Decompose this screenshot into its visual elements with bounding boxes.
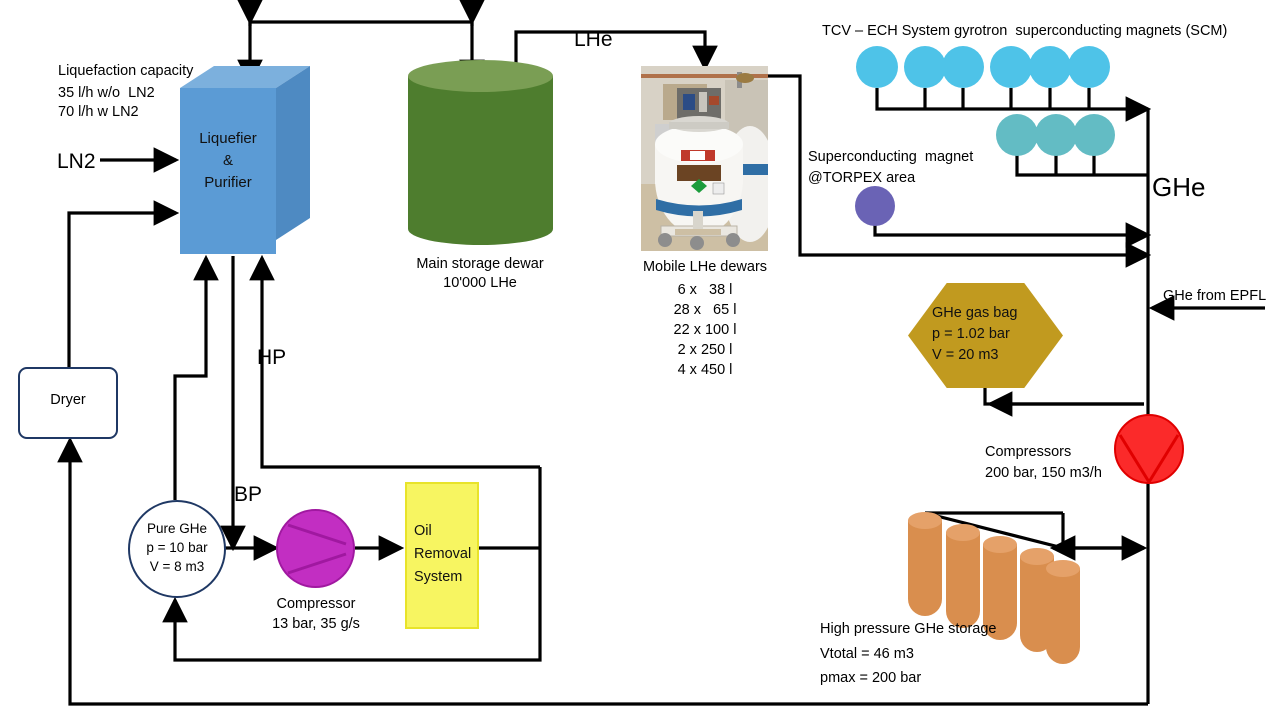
main-storage-dewar[interactable] — [408, 60, 553, 245]
liquefier-purifier-unit[interactable]: Liquefier & Purifier — [180, 66, 310, 254]
hp-storage-line1: High pressure GHe storage — [820, 620, 997, 639]
compressor-label-line2: 13 bar, 35 g/s — [236, 615, 396, 634]
hp-bottle-5[interactable] — [1046, 560, 1080, 672]
liquefier-label-line1: Liquefier — [180, 128, 276, 150]
mobile-dewars-row-3: 2 x 250 l — [620, 341, 790, 360]
compressor-label-line1: Compressor — [236, 595, 396, 614]
hp-bottle-cap — [946, 524, 980, 541]
mobile-dewars-row-1: 28 x 65 l — [620, 301, 790, 320]
ghe-stream-label: GHe — [1152, 178, 1205, 197]
compressors-200bar[interactable] — [1114, 414, 1184, 484]
hp-bottle-cap — [1046, 560, 1080, 577]
scm-magnet-row2-3[interactable] — [1073, 114, 1115, 156]
pipe-gasbag-link — [985, 388, 1144, 404]
gyrotron-magnet-4[interactable] — [990, 46, 1032, 88]
ln2-label: LN2 — [57, 152, 96, 171]
oil-removal-system[interactable]: Oil Removal System — [405, 482, 479, 629]
oil-removal-text: Oil Removal System — [414, 520, 471, 589]
compressors-label-line2: 200 bar, 150 m3/h — [985, 464, 1102, 483]
gas-bag-line3: V = 20 m3 — [932, 345, 1017, 366]
pipe-dryer-to-liquefier — [69, 213, 176, 367]
torpex-magnet-label-line2: @TORPEX area — [808, 169, 915, 188]
hp-bottle-cap — [908, 512, 942, 529]
hp-storage-line3: pmax = 200 bar — [820, 669, 921, 688]
ghe-gas-bag[interactable]: GHe gas bag p = 1.02 bar V = 20 m3 — [908, 283, 1063, 388]
hp-bottle-1[interactable] — [908, 512, 942, 624]
liquefaction-capacity-line1: 35 l/h w/o LN2 — [58, 84, 155, 103]
pipe-scm-row2-bus — [1017, 155, 1148, 175]
torpex-magnet-label-line1: Superconducting magnet — [808, 148, 973, 167]
pipe-pureghe-to-liquefier — [175, 258, 206, 500]
scm-magnet-row2-1[interactable] — [996, 114, 1038, 156]
hp-bottle-cap — [983, 536, 1017, 553]
oil-removal-line2: Removal — [414, 543, 471, 566]
compressors-label-line1: Compressors — [985, 443, 1071, 462]
mobile-dewars-row-4: 4 x 450 l — [620, 361, 790, 380]
ghe-from-epfl-label: GHe from EPFL — [1163, 287, 1266, 306]
mobile-lhe-dewar-photo[interactable] — [641, 66, 768, 251]
hp-stream-label: HP — [257, 348, 286, 367]
oil-removal-line3: System — [414, 566, 471, 589]
gas-bag-line1: GHe gas bag — [932, 303, 1017, 324]
bp-stream-label: BP — [234, 485, 262, 504]
gas-bag-text: GHe gas bag p = 1.02 bar V = 20 m3 — [932, 303, 1017, 366]
pipe-gyrotron-bus — [877, 88, 1148, 109]
oil-removal-line1: Oil — [414, 520, 471, 543]
hp-bottle-body — [908, 520, 942, 616]
dewar-top — [408, 60, 553, 92]
mobile-dewars-row-2: 22 x 100 l — [620, 321, 790, 340]
flow-diagram-canvas: Liquefaction capacity 35 l/h w/o LN2 70 … — [0, 0, 1280, 720]
compressor-13bar[interactable] — [276, 509, 355, 588]
pure-ghe-tank[interactable]: Pure GHe p = 10 bar V = 8 m3 — [128, 500, 226, 598]
hp-bottle-body — [946, 532, 980, 628]
pure-ghe-text: Pure GHe p = 10 bar V = 8 m3 — [130, 519, 224, 576]
pure-ghe-line2: p = 10 bar — [130, 538, 224, 557]
liquefaction-capacity-line2: 70 l/h w LN2 — [58, 103, 139, 122]
dryer-unit[interactable]: Dryer — [18, 367, 118, 439]
gyrotron-magnet-5[interactable] — [1029, 46, 1071, 88]
liquefier-label-line3: Purifier — [180, 172, 276, 194]
gyrotron-magnets-header: TCV – ECH System gyrotron superconductin… — [822, 22, 1227, 41]
scm-magnet-row2-2[interactable] — [1035, 114, 1077, 156]
pure-ghe-line1: Pure GHe — [130, 519, 224, 538]
gyrotron-magnet-1[interactable] — [856, 46, 898, 88]
dewar-body — [408, 76, 553, 229]
main-dewar-label-line1: Main storage dewar — [400, 255, 560, 274]
dryer-label: Dryer — [20, 392, 116, 408]
mobile-dewars-row-0: 6 x 38 l — [620, 281, 790, 300]
torpex-magnet[interactable] — [855, 186, 895, 226]
hp-storage-line2: Vtotal = 46 m3 — [820, 645, 914, 664]
gas-bag-line2: p = 1.02 bar — [932, 324, 1017, 345]
liquefaction-capacity-title: Liquefaction capacity — [58, 62, 193, 81]
gyrotron-magnet-2[interactable] — [904, 46, 946, 88]
main-dewar-label-line2: 10'000 LHe — [400, 274, 560, 293]
lhe-stream-label: LHe — [574, 30, 613, 49]
liquefier-label-line2: & — [180, 150, 276, 172]
liquefier-label: Liquefier & Purifier — [180, 128, 276, 194]
gyrotron-magnet-6[interactable] — [1068, 46, 1110, 88]
gyrotron-magnet-3[interactable] — [942, 46, 984, 88]
pipe-torpex-bus — [875, 222, 1148, 235]
mobile-dewars-caption: Mobile LHe dewars — [620, 258, 790, 277]
hp-bottle-body — [1046, 568, 1080, 664]
pure-ghe-line3: V = 8 m3 — [130, 557, 224, 576]
